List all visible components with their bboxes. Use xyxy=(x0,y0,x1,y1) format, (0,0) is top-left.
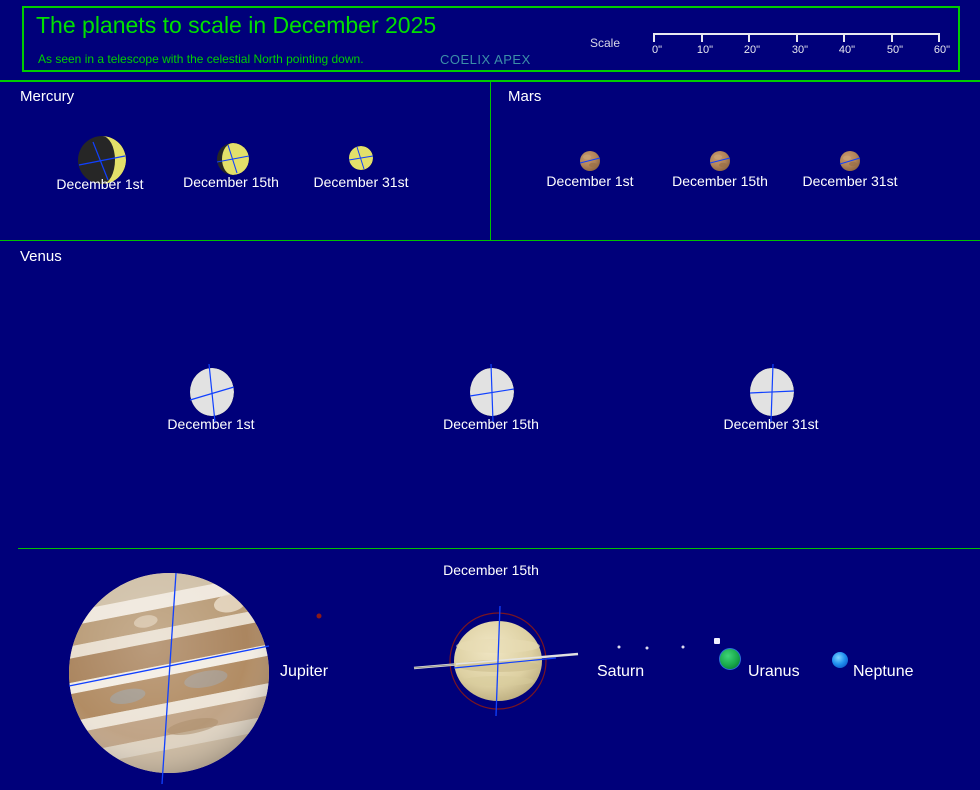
planet-scale-diagram: The planets to scale in December 2025 As… xyxy=(0,0,980,790)
date-label-mars-dec-31: December 31st xyxy=(803,173,898,189)
date-label-venus-dec-1: December 1st xyxy=(167,416,254,432)
scale-tick xyxy=(653,33,655,42)
section-title-venus: Venus xyxy=(20,248,62,265)
scale-tick xyxy=(796,33,798,42)
jupiter-disk xyxy=(64,568,282,786)
brand-logo: COELIX APEX xyxy=(440,52,531,67)
date-label-venus-dec-31: December 31st xyxy=(724,416,819,432)
planet-label-jupiter: Jupiter xyxy=(280,663,328,681)
planet-label-saturn: Saturn xyxy=(597,663,644,681)
section-title-mars: Mars xyxy=(508,88,541,105)
saturn-disk xyxy=(406,606,586,716)
date-label-outer-dec-15: December 15th xyxy=(443,562,539,578)
scale-tick-labels: 0"10"20"30"40"50"60" xyxy=(653,44,953,58)
mercury-disk-dec-15 xyxy=(215,141,251,177)
divider-mercury-mars xyxy=(490,82,491,240)
mars-disk-dec-1 xyxy=(578,149,602,173)
venus-disk-dec-15 xyxy=(464,360,520,424)
mars-disk-dec-31 xyxy=(838,149,862,173)
planet-label-neptune: Neptune xyxy=(853,663,914,681)
page-title: The planets to scale in December 2025 xyxy=(36,12,436,39)
uranus-moon-1 xyxy=(714,638,720,644)
date-label-venus-dec-15: December 15th xyxy=(443,416,539,432)
date-label-mars-dec-15: December 15th xyxy=(672,173,768,189)
jupiter-moon-1 xyxy=(317,614,322,619)
neptune-disk xyxy=(830,650,850,670)
page-subtitle: As seen in a telescope with the celestia… xyxy=(38,52,364,66)
scale-tick-label: 10" xyxy=(697,44,713,56)
date-label-mercury-dec-1: December 1st xyxy=(56,176,143,192)
section-title-mercury: Mercury xyxy=(20,88,74,105)
saturn-moon-2 xyxy=(646,647,649,650)
scale-tick xyxy=(843,33,845,42)
scale-tick-label: 40" xyxy=(839,44,855,56)
date-label-mars-dec-1: December 1st xyxy=(546,173,633,189)
planet-label-uranus: Uranus xyxy=(748,663,800,681)
scale-tick-label: 30" xyxy=(792,44,808,56)
divider-upper xyxy=(0,240,980,241)
saturn-moon-3 xyxy=(682,646,685,649)
scale-tick xyxy=(701,33,703,42)
date-label-mercury-dec-15: December 15th xyxy=(183,174,279,190)
scale-tick-label: 50" xyxy=(887,44,903,56)
venus-disk-dec-1 xyxy=(184,360,240,424)
uranus-disk xyxy=(717,646,743,672)
scale-tick xyxy=(748,33,750,42)
mars-disk-dec-15 xyxy=(708,149,732,173)
scale-bar xyxy=(653,33,938,43)
divider-venus-outer xyxy=(18,548,980,549)
scale-tick xyxy=(891,33,893,42)
venus-disk-dec-31 xyxy=(744,360,800,424)
scale-tick-label: 60" xyxy=(934,44,950,56)
date-label-mercury-dec-31: December 31st xyxy=(314,174,409,190)
saturn-moon-1 xyxy=(618,646,621,649)
scale-label: Scale xyxy=(590,36,620,50)
scale-tick xyxy=(938,33,940,42)
scale-tick-label: 0" xyxy=(652,44,662,56)
mercury-disk-dec-31 xyxy=(347,144,375,172)
scale-tick-label: 20" xyxy=(744,44,760,56)
